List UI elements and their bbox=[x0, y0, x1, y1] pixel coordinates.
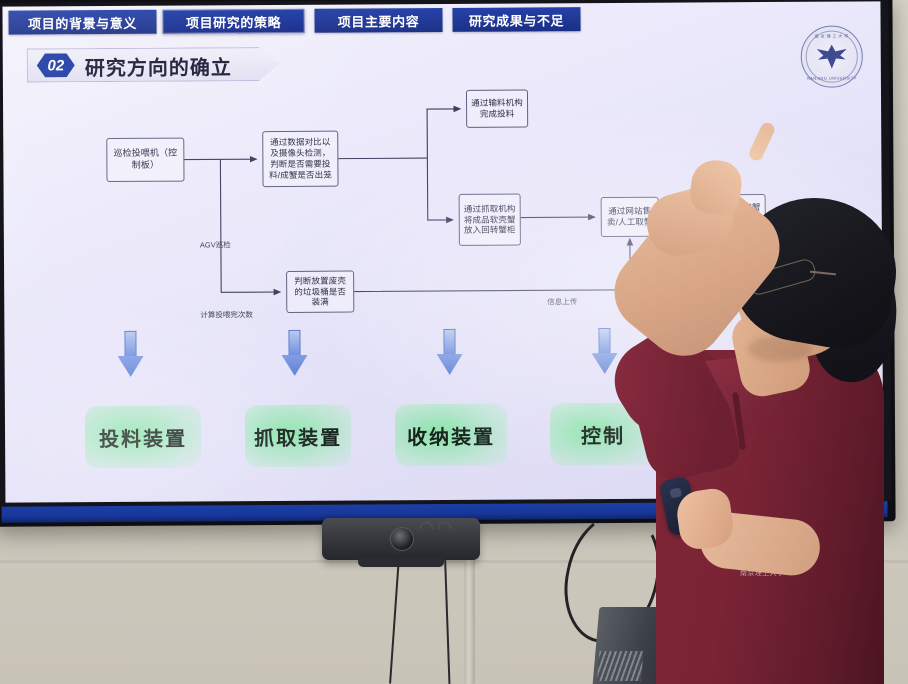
tab-research-strategy[interactable]: 项目研究的策略 bbox=[162, 9, 304, 34]
down-arrow-icon-1 bbox=[117, 331, 143, 377]
down-arrow-icon-3 bbox=[436, 329, 462, 375]
flow-label-feed-count: 计算投喂完次数 bbox=[200, 309, 253, 320]
tab-results-shortcomings[interactable]: 研究成果与不足 bbox=[452, 7, 580, 32]
logo-top-text: 南 京 理 工 大 学 bbox=[802, 33, 862, 39]
outcome-box-grabbing-device: 抓取装置 bbox=[245, 405, 351, 468]
presenter: 南京理工大学 bbox=[560, 160, 908, 684]
clicker-button[interactable] bbox=[669, 487, 682, 498]
university-logo: 南 京 理 工 大 学 NANJING UNIVERSITY bbox=[801, 25, 863, 87]
soundbar-grip-left bbox=[420, 522, 433, 529]
slide-tab-bar: 项目的背景与意义 项目研究的策略 项目主要内容 研究成果与不足 bbox=[2, 5, 880, 36]
soundbar-grip-right bbox=[438, 522, 451, 529]
down-arrow-icon-2 bbox=[281, 330, 307, 376]
flow-box-bin-full-check: 判断放置废壳的垃圾桶是否装满 bbox=[286, 271, 354, 313]
presenter-forearm bbox=[640, 180, 739, 262]
flow-box-feeding-mechanism: 通过输料机构完成投料 bbox=[466, 89, 528, 127]
flow-box-inspection-feeder: 巡检投喂机（控制板） bbox=[106, 138, 184, 182]
outcome-box-storage-device: 收纳装置 bbox=[395, 404, 507, 467]
presenter-pointing-hand bbox=[688, 158, 744, 218]
camera-lens-icon bbox=[390, 527, 414, 551]
flow-box-data-comparison: 通过数据对比以及摄像头检测，判断是否需要投料/成蟹是否出笼 bbox=[262, 131, 338, 187]
tab-background-significance[interactable]: 项目的背景与意义 bbox=[8, 10, 156, 35]
wall-conduit bbox=[464, 552, 475, 684]
outcome-box-feeding-device: 投料装置 bbox=[85, 405, 201, 468]
section-header: 02 研究方向的确立 bbox=[27, 47, 279, 83]
flow-label-agv-patrol: AGV巡检 bbox=[200, 239, 231, 250]
section-title: 研究方向的确立 bbox=[85, 51, 232, 81]
soundbar-foot bbox=[358, 558, 444, 567]
conference-camera-soundbar bbox=[322, 518, 480, 560]
flow-box-grab-mechanism: 通过抓取机构将成品软壳蟹放入回转蟹柜 bbox=[459, 194, 521, 246]
tab-main-content[interactable]: 项目主要内容 bbox=[314, 8, 442, 33]
